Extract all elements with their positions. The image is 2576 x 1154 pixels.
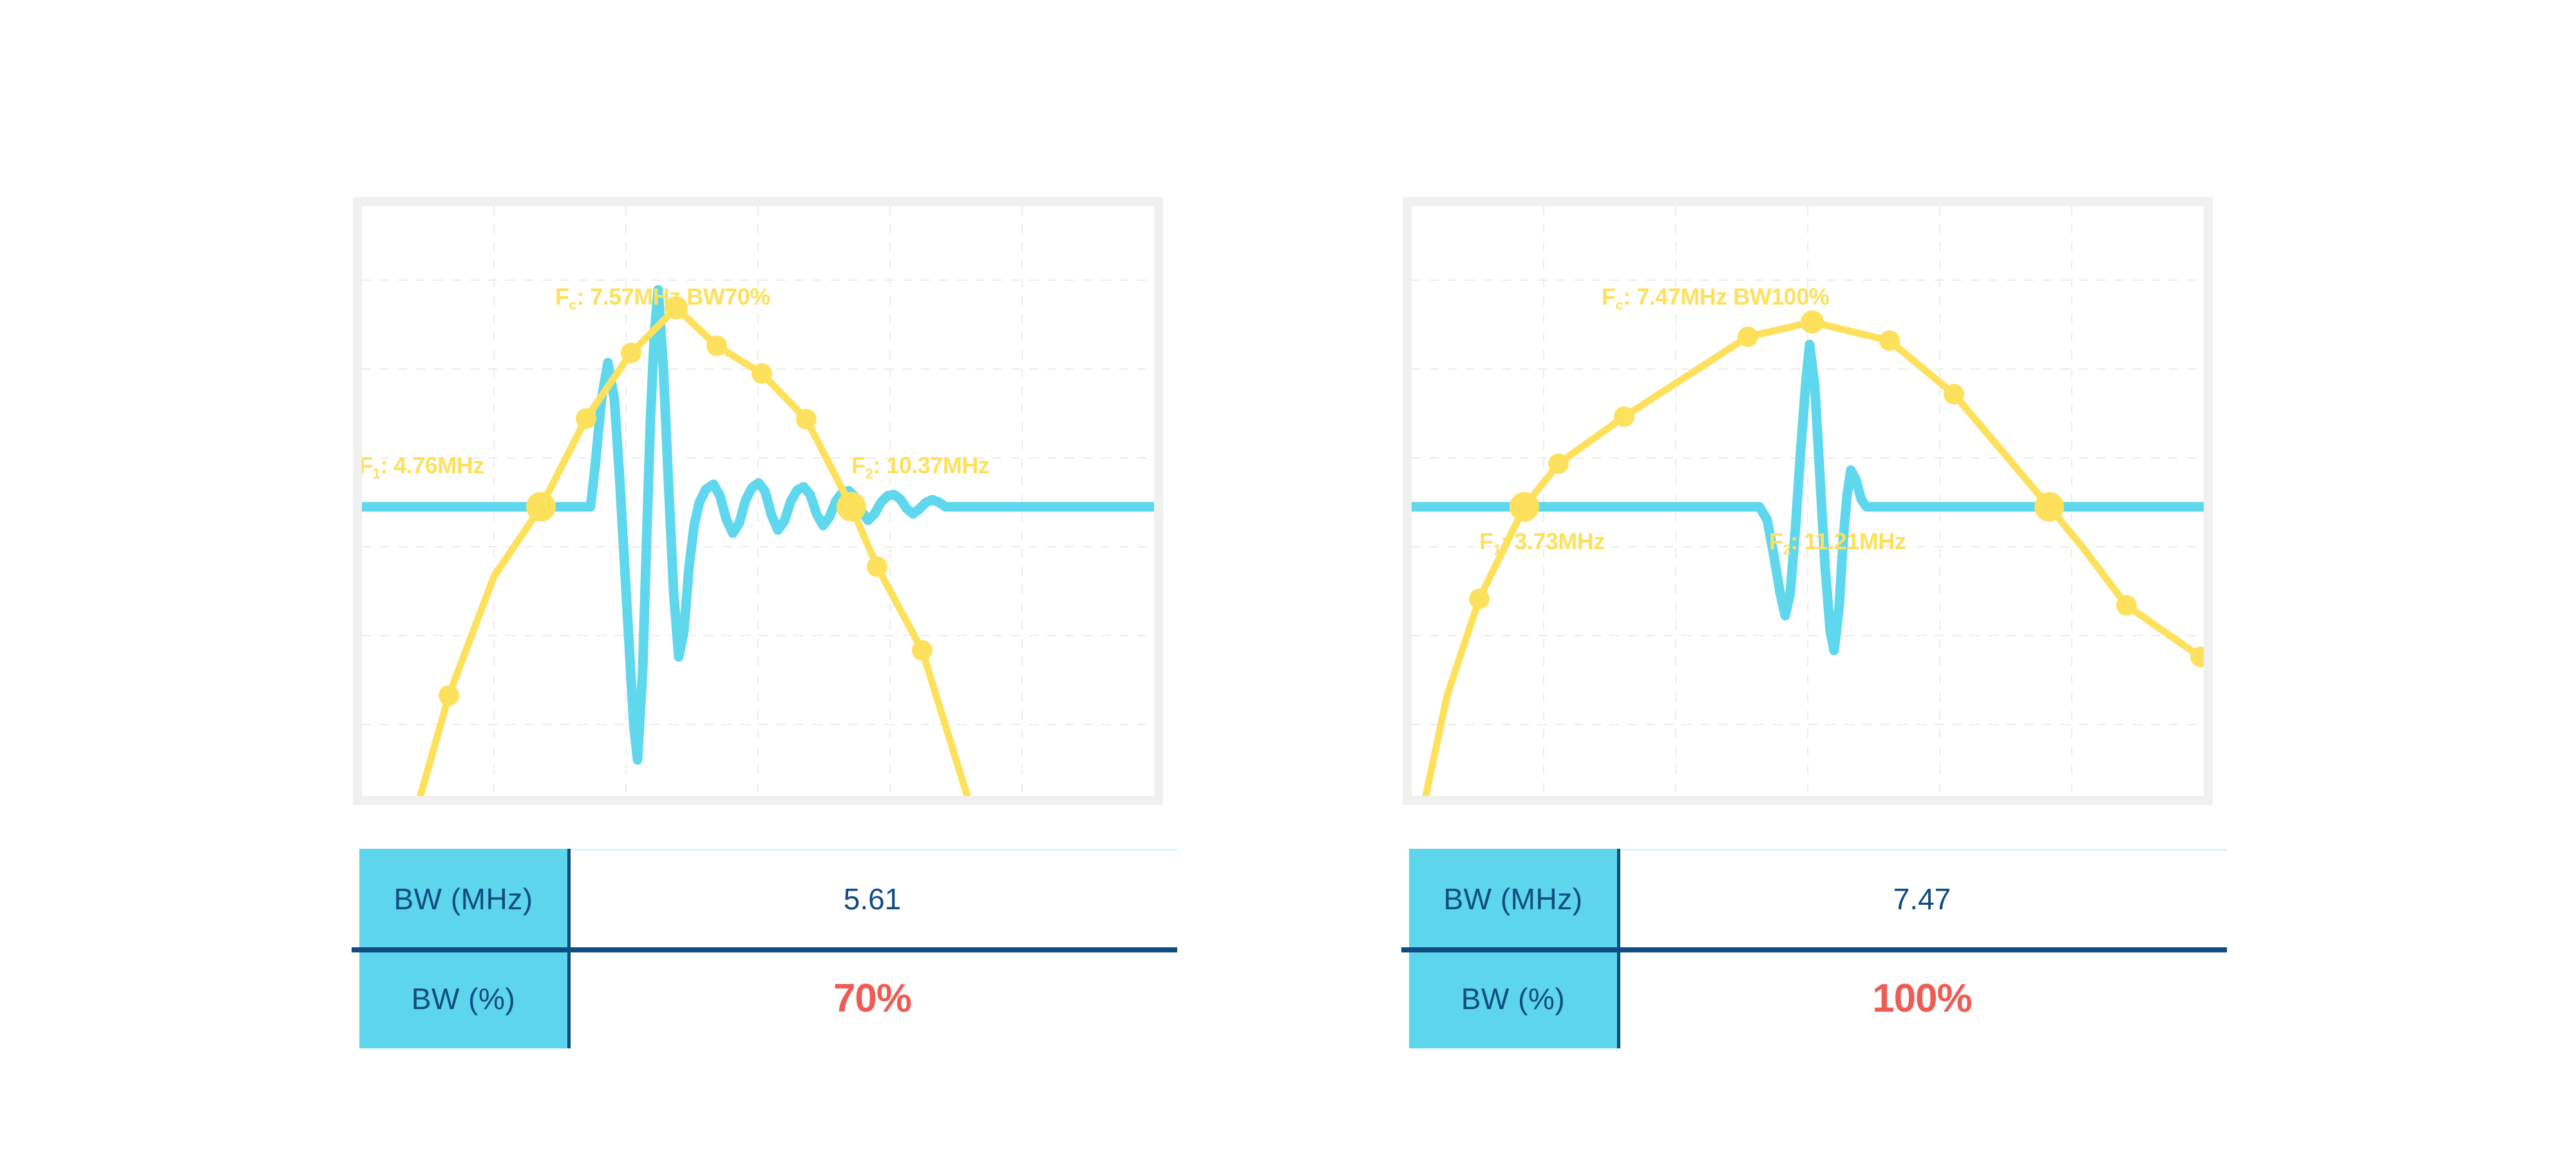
- table-horizontal-divider-right: [1401, 947, 2227, 952]
- bw-percent-value: 70%: [833, 976, 911, 1021]
- bw-table-right: BW (MHz) 7.47 BW (%) 100%: [1409, 849, 2227, 1048]
- bw-percent-value: 100%: [1872, 976, 1972, 1021]
- table-header-bw-pct: BW (%): [1409, 949, 1617, 1048]
- label-center-freq-right: Fc: 7.47MHz BW100%: [1602, 283, 1829, 310]
- chart-frame-left: Fc: 7.57MHz BW70% F1: 4.76MHz F2: 10.37M…: [353, 197, 1163, 805]
- table-row: BW (%) 100%: [1409, 949, 2227, 1048]
- table-cell-bw-pct-value: 100%: [1617, 949, 2227, 1048]
- panel-right: Fc: 7.47MHz BW100% F1: 3.73MHz F2: 11.21…: [1050, 0, 2338, 1154]
- waveform-trace-left: [362, 290, 1154, 760]
- label-f2-right: F2: 11.21MHz: [1769, 528, 1906, 555]
- plot-area-right: Fc: 7.47MHz BW100% F1: 3.73MHz F2: 11.21…: [1412, 206, 2204, 796]
- plot-area-left: Fc: 7.57MHz BW70% F1: 4.76MHz F2: 10.37M…: [362, 206, 1154, 796]
- label-f1-left: F1: 4.76MHz: [362, 452, 484, 479]
- table-row: BW (MHz) 7.47: [1409, 849, 2227, 949]
- spectrum-trace-left: [403, 308, 967, 796]
- table-cell-bw-mhz-value: 7.47: [1617, 849, 2227, 949]
- table-header-bw-mhz: BW (MHz): [359, 849, 567, 949]
- table-header-bw-mhz: BW (MHz): [1409, 849, 1617, 949]
- label-f1-right: F1: 3.73MHz: [1479, 528, 1605, 555]
- label-center-freq-left: Fc: 7.57MHz BW70%: [555, 283, 770, 310]
- bw-mhz-value: 5.61: [844, 882, 902, 916]
- table-header-bw-pct: BW (%): [359, 949, 567, 1048]
- chart-frame-right: Fc: 7.47MHz BW100% F1: 3.73MHz F2: 11.21…: [1403, 197, 2213, 805]
- label-f2-left: F2: 10.37MHz: [851, 452, 989, 479]
- bw-mhz-value: 7.47: [1893, 882, 1951, 916]
